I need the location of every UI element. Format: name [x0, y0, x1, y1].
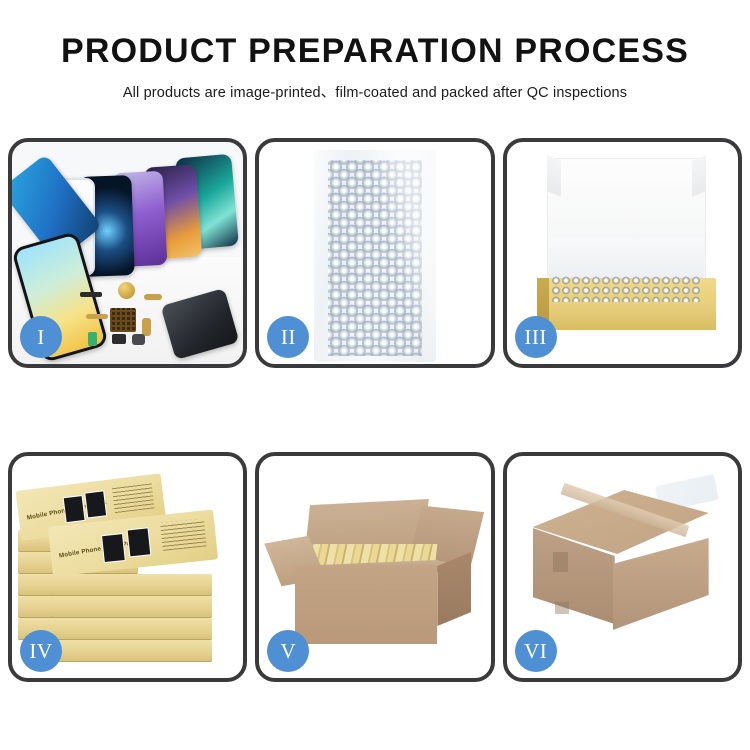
bubble-wrapped-item — [551, 276, 702, 304]
step-badge-6: VI — [515, 630, 557, 672]
steps-grid: I II — [8, 138, 742, 682]
sealed-carton-right-face — [613, 538, 709, 630]
box-spec-text-rear — [112, 482, 155, 513]
camera-module-part — [132, 334, 145, 345]
retail-box-stack-right-1 — [52, 574, 212, 596]
retail-box-stack-right-2 — [52, 596, 212, 618]
flex-cable-part-a — [86, 314, 108, 319]
box-window-front-a — [101, 533, 126, 563]
carton-handle-tab-lower — [555, 602, 569, 614]
step-badge-1: I — [20, 316, 62, 358]
step-panel-6: VI — [503, 452, 742, 682]
product-preparation-infographic: PRODUCT PREPARATION PROCESS All products… — [0, 0, 750, 750]
step-panel-4: Mobile Phone Spare Parts Mobile Phone Sp… — [8, 452, 247, 682]
header: PRODUCT PREPARATION PROCESS All products… — [0, 0, 750, 102]
lid-flap-left — [547, 155, 561, 197]
retail-box-stack-right-3 — [52, 618, 212, 640]
screw-tray-part — [110, 308, 136, 332]
flex-cable-part-c — [142, 318, 151, 336]
page-title: PRODUCT PREPARATION PROCESS — [0, 34, 750, 70]
bubble-wrap-bag — [314, 150, 436, 362]
step-panel-2: II — [255, 138, 494, 368]
step-badge-3: III — [515, 316, 557, 358]
box-window-rear-b — [84, 490, 107, 518]
retail-box-stack-right-4 — [52, 640, 212, 662]
step-panel-5: V — [255, 452, 494, 682]
page-subtitle: All products are image-printed、film-coat… — [0, 81, 750, 102]
speaker-part — [112, 334, 126, 344]
box-spec-text-front — [160, 518, 207, 550]
connector-part — [80, 292, 102, 297]
step-badge-4: IV — [20, 630, 62, 672]
box-window-front-b — [127, 527, 152, 557]
carton-front-face — [295, 566, 437, 644]
foam-sheet — [549, 238, 704, 280]
flex-cable-part-b — [144, 294, 162, 300]
battery-part — [88, 332, 97, 346]
bubble-layer-secondary — [328, 160, 422, 356]
step-panel-1: I — [8, 138, 247, 368]
vibrator-motor-part — [118, 282, 135, 299]
lid-flap-right — [692, 155, 706, 197]
kraft-tray-front — [537, 302, 716, 330]
carton-handle-tab-upper — [553, 552, 568, 572]
step-panel-3: III — [503, 138, 742, 368]
box-window-rear-a — [63, 495, 86, 523]
